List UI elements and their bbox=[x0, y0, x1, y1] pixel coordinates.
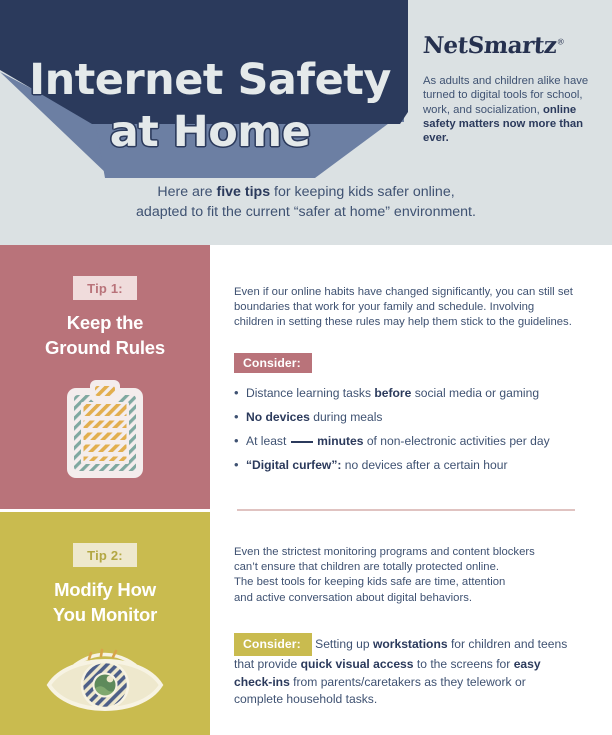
tip-2-body-line-3: The best tools for keeping kids safe are… bbox=[234, 575, 576, 590]
bullet-1-post: social media or gaming bbox=[411, 386, 539, 400]
bullet-3-pre: At least bbox=[246, 434, 290, 448]
tip-1-sidebar: Tip 1: Keep the Ground Rules bbox=[0, 245, 210, 509]
bullet-3-bold: minutes bbox=[317, 434, 363, 448]
list-item: Distance learning tasks before social me… bbox=[234, 386, 576, 401]
tip-2-content: Even the strictest monitoring programs a… bbox=[234, 545, 576, 709]
subtitle-pre: Here are bbox=[157, 184, 216, 200]
tip-2-consider-tag: Consider: bbox=[234, 633, 312, 657]
subtitle-post: for keeping kids safer online, bbox=[270, 184, 455, 200]
bullet-2-post: during meals bbox=[310, 410, 383, 424]
fill-in-blank bbox=[291, 441, 313, 443]
infographic-page: Internet Safety at Home NetSmartz® As ad… bbox=[0, 0, 612, 735]
bullet-4-post: no devices after a certain hour bbox=[341, 458, 507, 472]
consider-bold-1: workstations bbox=[373, 637, 448, 651]
tip-2-body: Even the strictest monitoring programs a… bbox=[234, 545, 576, 606]
subtitle-block: Here are five tips for keeping kids safe… bbox=[0, 182, 612, 222]
clipboard-icon bbox=[63, 378, 147, 482]
header-banner: Internet Safety at Home NetSmartz® As ad… bbox=[0, 0, 612, 245]
tip-1-badge: Tip 1: bbox=[73, 276, 137, 300]
subtitle-line-2: adapted to fit the current “safer at hom… bbox=[0, 202, 612, 222]
tip-2-title: Modify How You Monitor bbox=[0, 577, 210, 627]
section-divider bbox=[237, 509, 575, 511]
registered-mark-icon: ® bbox=[556, 37, 564, 46]
consider-text-1: Setting up bbox=[312, 637, 373, 651]
list-item: At least minutes of non-electronic activ… bbox=[234, 434, 576, 449]
tip-2-consider-paragraph: Consider: Setting up workstations for ch… bbox=[234, 633, 576, 709]
tip-1-icon-wrap bbox=[0, 378, 210, 482]
bullet-4-bold: “Digital curfew”: bbox=[246, 458, 341, 472]
subtitle-line-1: Here are five tips for keeping kids safe… bbox=[0, 182, 612, 202]
subtitle-bold: five tips bbox=[216, 184, 270, 200]
consider-text-3: to the screens for bbox=[414, 657, 514, 671]
netsmartz-logo: NetSmartz® bbox=[422, 32, 604, 59]
intro-paragraph: As adults and children alike have turned… bbox=[423, 74, 603, 145]
tip-2-icon-wrap bbox=[0, 645, 210, 723]
tip-2-body-line-2: can’t ensure that children are totally p… bbox=[234, 560, 576, 575]
tip-1-bullet-list: Distance learning tasks before social me… bbox=[234, 386, 576, 473]
eye-icon bbox=[45, 645, 165, 723]
tip-1-title-line-1: Keep the bbox=[0, 310, 210, 335]
tip-1-title-line-2: Ground Rules bbox=[0, 335, 210, 360]
list-item: No devices during meals bbox=[234, 410, 576, 425]
netsmartz-logo-text: NetSmartz bbox=[422, 32, 557, 59]
brand-block: NetSmartz® As adults and children alike … bbox=[423, 32, 603, 145]
bullet-1-pre: Distance learning tasks bbox=[246, 386, 374, 400]
tip-2-badge: Tip 2: bbox=[73, 543, 137, 567]
bullet-2-bold: No devices bbox=[246, 410, 310, 424]
tip-1-consider-tag: Consider: bbox=[234, 353, 312, 373]
tip-2-body-line-4: and active conversation about digital be… bbox=[234, 591, 576, 606]
tip-1-title: Keep the Ground Rules bbox=[0, 310, 210, 360]
tip-2-body-line-1: Even the strictest monitoring programs a… bbox=[234, 545, 576, 560]
tip-2-title-line-2: You Monitor bbox=[0, 602, 210, 627]
tip-1-body: Even if our online habits have changed s… bbox=[234, 285, 576, 331]
title-navy-polygon bbox=[0, 0, 408, 124]
tip-section-2: Tip 2: Modify How You Monitor bbox=[0, 512, 612, 735]
bullet-1-bold: before bbox=[374, 386, 411, 400]
tip-section-1: Tip 1: Keep the Ground Rules bbox=[0, 245, 612, 509]
consider-bold-2: quick visual access bbox=[301, 657, 414, 671]
tip-2-sidebar: Tip 2: Modify How You Monitor bbox=[0, 512, 210, 735]
tip-1-content: Even if our online habits have changed s… bbox=[234, 285, 576, 482]
tip-2-title-line-1: Modify How bbox=[0, 577, 210, 602]
list-item: “Digital curfew”: no devices after a cer… bbox=[234, 458, 576, 473]
bullet-3-post: of non-electronic activities per day bbox=[363, 434, 549, 448]
